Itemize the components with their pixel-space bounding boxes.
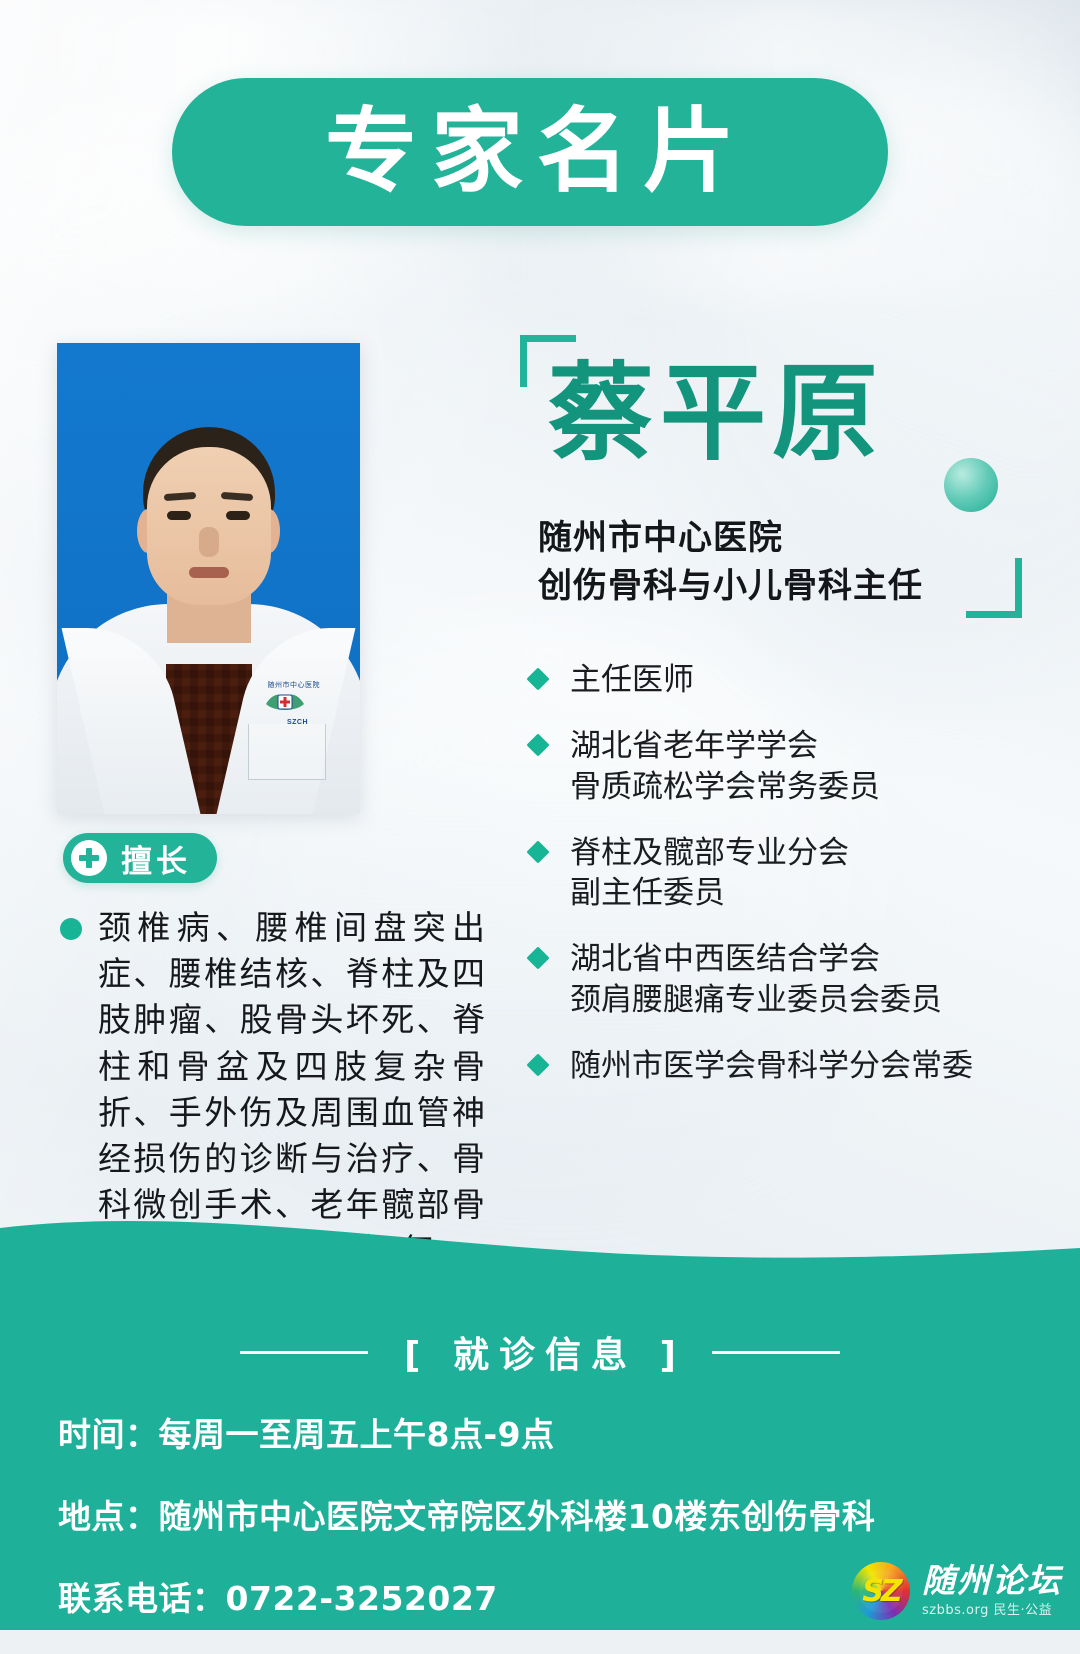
- credential-text: 主任医师: [570, 660, 694, 700]
- footer-wave-divider: [0, 1214, 1080, 1274]
- diamond-bullet-icon: [526, 947, 549, 970]
- logo-subtitle: szbbs.org 民生·公益: [922, 1599, 1062, 1618]
- credential-text: 湖北省老年学学会 骨质疏松学会常务委员: [570, 726, 880, 807]
- logo-text-group: 随州论坛 szbbs.org 民生·公益: [922, 1564, 1062, 1618]
- eye-right: [226, 511, 250, 520]
- medical-cross-icon: [71, 840, 107, 876]
- coat-badge-code: SZCH: [287, 719, 308, 726]
- eye-left: [167, 511, 191, 520]
- nose: [199, 527, 219, 557]
- appointment-info: 时间：每周一至周五上午8点-9点 地点：随州市中心医院文帝院区外科楼10楼东创伤…: [58, 1408, 875, 1654]
- footer: [ 就诊信息 ] 时间：每周一至周五上午8点-9点 地点：随州市中心医院文帝院区…: [0, 1260, 1080, 1630]
- site-logo: SZ 随州论坛 szbbs.org 民生·公益: [852, 1562, 1062, 1620]
- logo-mark-text: SZ: [862, 1574, 899, 1609]
- credential-item: 随州市医学会骨科学分会常委: [528, 1046, 1028, 1086]
- diamond-bullet-icon: [526, 734, 549, 757]
- footer-section-title: [ 就诊信息 ]: [394, 1326, 686, 1378]
- credential-item: 湖北省老年学学会 骨质疏松学会常务委员: [528, 726, 1028, 807]
- credential-text: 随州市医学会骨科学分会常委: [570, 1046, 973, 1086]
- face: [147, 447, 271, 605]
- logo-emblem-icon: SZ: [852, 1562, 910, 1620]
- divider-rule-right: [712, 1351, 840, 1354]
- organization-line-1: 随州市中心医院: [538, 510, 783, 559]
- header-banner: 专家名片: [172, 78, 888, 226]
- credential-item: 主任医师: [528, 660, 1028, 700]
- organization-line-2: 创伤骨科与小儿骨科主任: [538, 558, 923, 607]
- decorative-dot-icon: [944, 458, 998, 512]
- appointment-phone: 联系电话：0722-3252027: [58, 1572, 875, 1620]
- credential-text: 脊柱及髋部专业分会 副主任委员: [570, 833, 849, 914]
- appointment-location: 地点：随州市中心医院文帝院区外科楼10楼东创伤骨科: [58, 1490, 875, 1538]
- credential-item: 湖北省中西医结合学会 颈肩腰腿痛专业委员会委员: [528, 939, 1028, 1020]
- divider-rule-left: [240, 1351, 368, 1354]
- corner-bracket-bottom-right-icon: [966, 558, 1022, 618]
- credential-item: 脊柱及髋部专业分会 副主任委员: [528, 833, 1028, 914]
- diamond-bullet-icon: [526, 667, 549, 690]
- logo-title: 随州论坛: [922, 1564, 1062, 1597]
- diamond-bullet-icon: [526, 840, 549, 863]
- specialty-badge-label: 擅长: [121, 836, 191, 881]
- doctor-name: 蔡平原: [548, 354, 884, 475]
- page-title: 专家名片: [311, 106, 749, 198]
- round-bullet-icon: [60, 918, 82, 940]
- appointment-time: 时间：每周一至周五上午8点-9点: [58, 1408, 875, 1456]
- diamond-bullet-icon: [526, 1053, 549, 1076]
- footer-section-header: [ 就诊信息 ]: [0, 1326, 1080, 1378]
- specialty-badge: 擅长: [63, 833, 217, 883]
- credentials-list: 主任医师 湖北省老年学学会 骨质疏松学会常务委员 脊柱及髋部专业分会 副主任委员…: [528, 660, 1028, 1112]
- credential-text: 湖北省中西医结合学会 颈肩腰腿痛专业委员会委员: [570, 939, 942, 1020]
- hospital-emblem-icon: [262, 688, 308, 718]
- coat-pocket: [248, 724, 326, 780]
- mouth: [189, 567, 229, 578]
- doctor-photo: 随州市中心医院 SZCH: [57, 343, 360, 814]
